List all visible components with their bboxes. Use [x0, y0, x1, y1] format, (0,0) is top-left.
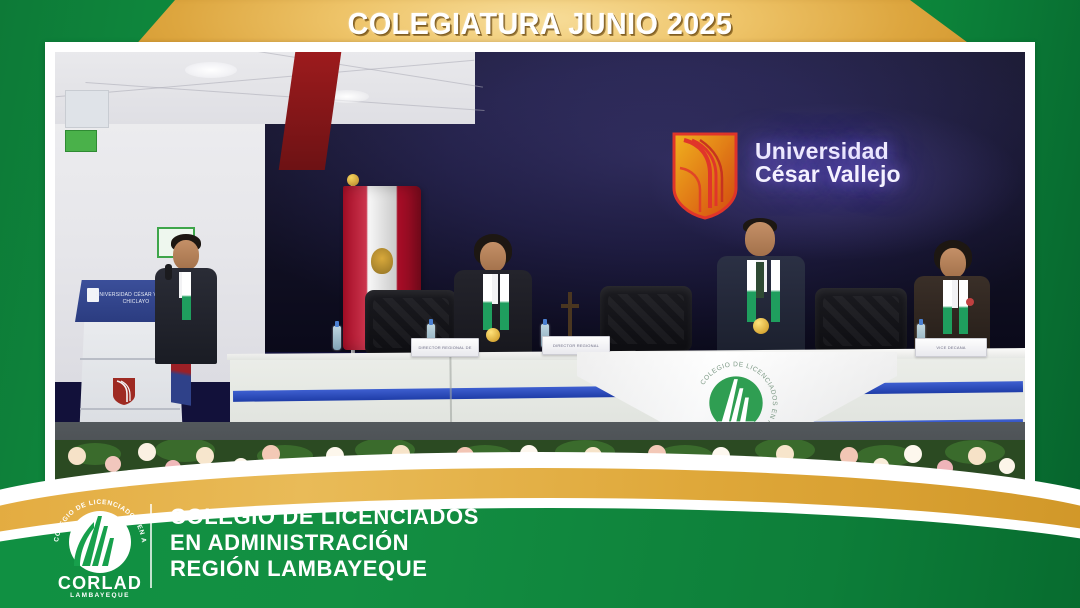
- microphone-icon: [165, 264, 172, 280]
- ucv-shield-icon: [670, 130, 740, 220]
- chair: [600, 286, 692, 352]
- footer-divider: [150, 504, 152, 588]
- event-photo: ← Universidad César Vallejo: [55, 52, 1025, 480]
- backdrop-brand-text: Universidad César Vallejo: [755, 140, 901, 186]
- footer-organization-name: COLEGIO DE LICENCIADOS EN ADMINISTRACIÓN…: [170, 504, 479, 582]
- wall-green-sign: [65, 130, 97, 152]
- placard-2-text: DIRECTOR REGIONAL: [553, 343, 599, 348]
- footer-line-1: COLEGIO DE LICENCIADOS: [170, 504, 479, 530]
- peru-coat-of-arms-icon: [371, 248, 393, 274]
- corlad-acronym: CORLAD: [58, 573, 142, 593]
- water-bottle: [333, 326, 341, 350]
- placard-1: DIRECTOR REGIONAL DE: [411, 338, 479, 357]
- page-title: COLEGIATURA JUNIO 2025: [38, 2, 1042, 46]
- footer-line-2: EN ADMINISTRACIÓN: [170, 530, 479, 556]
- chair: [815, 288, 907, 354]
- footer-line-3: REGIÓN LAMBAYEQUE: [170, 556, 479, 582]
- poster-root: COLEGIATURA JUNIO 2025 ←: [0, 0, 1080, 608]
- lapel-pin-icon: [966, 298, 974, 306]
- wall-notice: [65, 90, 109, 128]
- person-speaker: [151, 234, 221, 364]
- ceiling-light-icon: [185, 62, 237, 78]
- person-seated-2: [715, 218, 807, 358]
- placard-3-text: VICE DECANA: [936, 345, 965, 350]
- corlad-region: LAMBAYEQUE: [70, 592, 130, 598]
- footer-green-curve: [0, 508, 1080, 608]
- backdrop-brand-line2: César Vallejo: [755, 163, 901, 186]
- corlad-logo: COLEGIO DE LICENCIADOS EN ADMINISTRACIÓN…: [44, 494, 156, 598]
- ucv-shield-icon: [111, 376, 137, 406]
- flag-finial: [347, 174, 359, 186]
- ceiling: [55, 52, 475, 124]
- backdrop-brand-line1: Universidad: [755, 140, 901, 163]
- placard-3: VICE DECANA: [915, 338, 987, 357]
- placard-1-text: DIRECTOR REGIONAL DE: [418, 345, 471, 350]
